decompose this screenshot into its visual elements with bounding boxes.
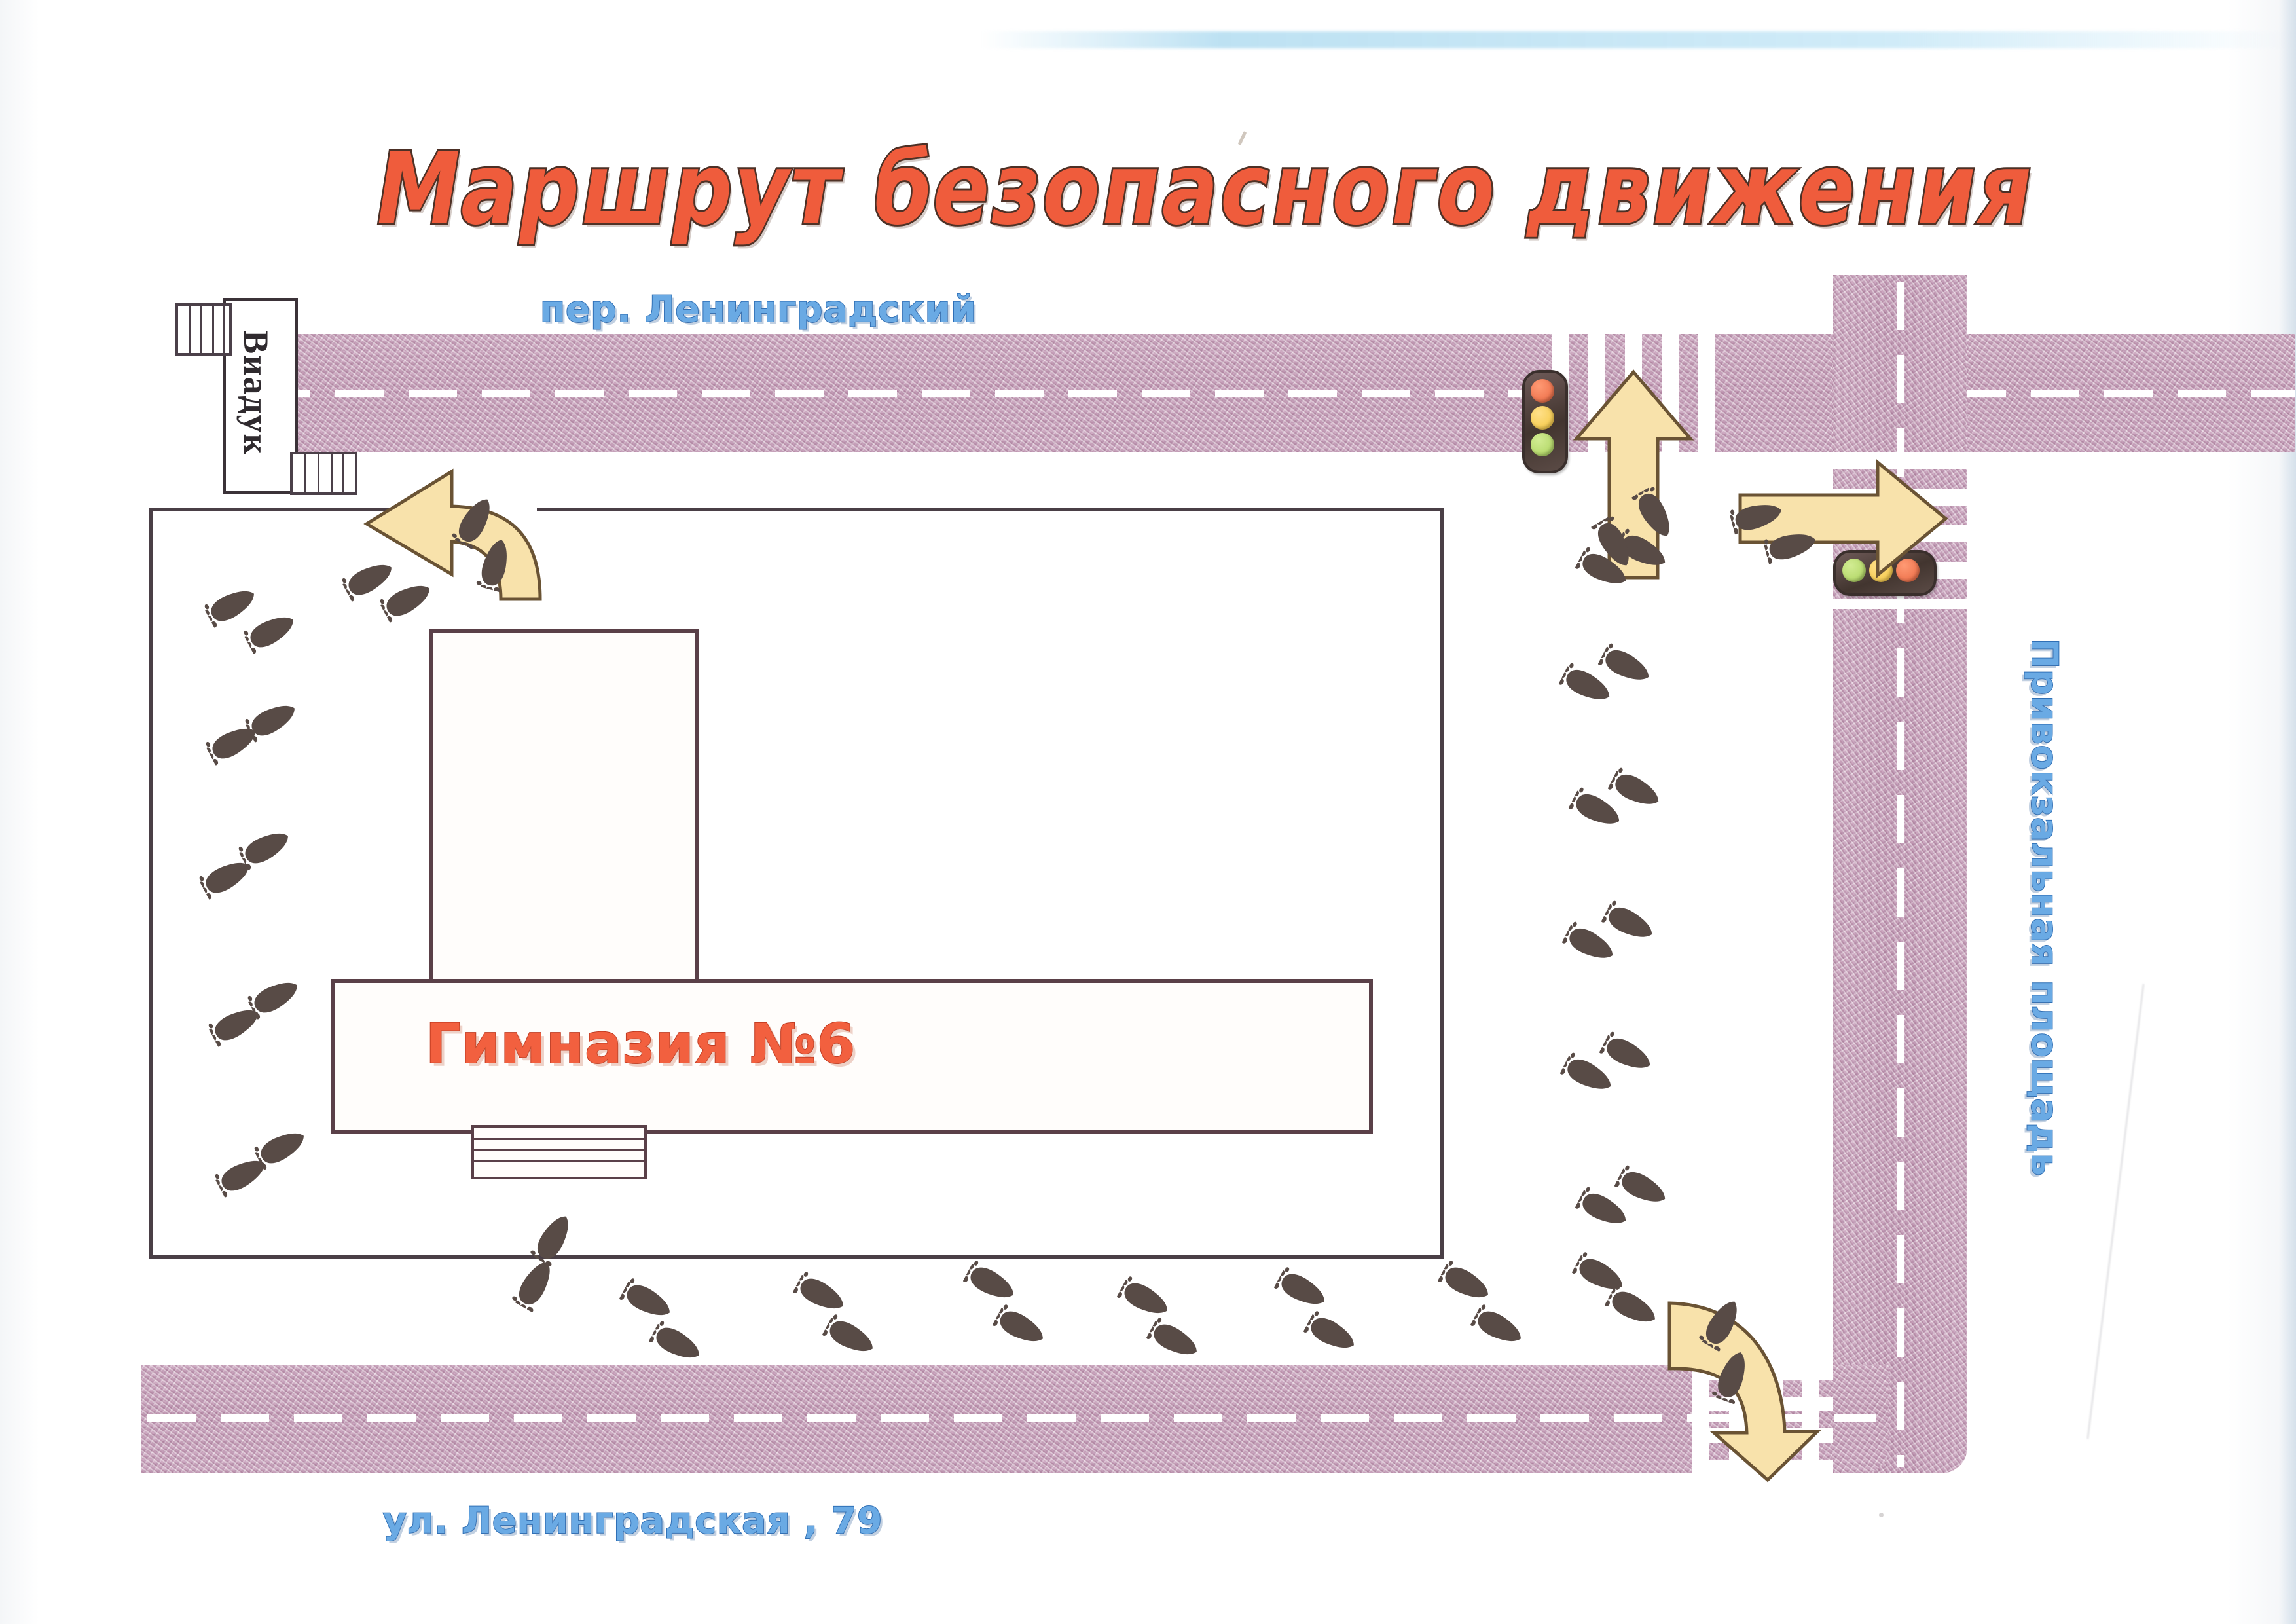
traffic-light-yellow-bulb [1531, 406, 1554, 430]
lane-marking-top-east [1958, 390, 2295, 397]
school-yard-boundary [149, 507, 1444, 1259]
viaduct-stairs-top [175, 303, 232, 356]
street-label-top: пер. Ленинградский [540, 288, 977, 330]
school-name-label: Гимназия №6 [426, 1012, 856, 1076]
traffic-light-red-bulb [1531, 379, 1554, 403]
scan-edge-artifact-right [2279, 0, 2296, 1624]
school-entrance-steps [471, 1125, 647, 1179]
street-label-bottom: ул. Ленинградская , 79 [383, 1500, 883, 1541]
lane-marking-bottom [147, 1414, 1876, 1422]
arrow-curve-down-crosswalk-bottom [1663, 1264, 1859, 1486]
lane-marking-top [262, 390, 1525, 397]
street-label-right: Привокзальная площадь [2024, 638, 2066, 1177]
scan-edge-artifact-top [982, 31, 2291, 48]
scan-speck [1879, 1513, 1884, 1517]
traffic-light-green-bulb [1531, 433, 1554, 456]
page-title: Маршрут безопасного движения [367, 132, 2043, 248]
viaduct-label: Виадук [222, 298, 291, 488]
traffic-light-vertical-top [1522, 370, 1568, 473]
